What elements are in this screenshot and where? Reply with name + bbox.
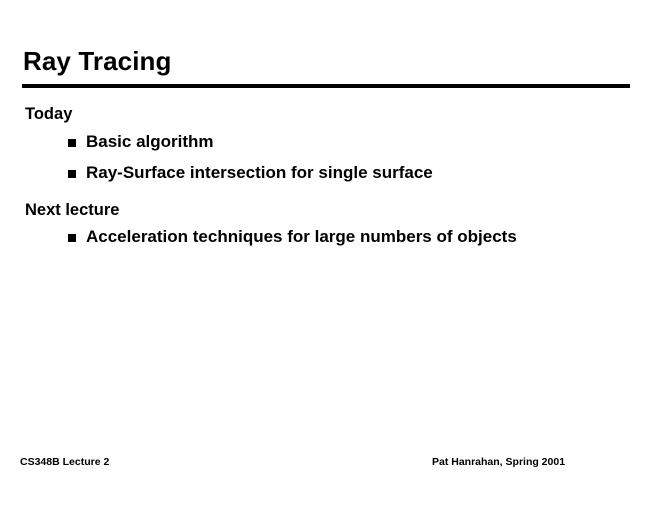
square-bullet-icon (68, 139, 76, 147)
slide-footer: CS348B Lecture 2 Pat Hanrahan, Spring 20… (0, 456, 660, 472)
section-heading-today: Today (0, 106, 660, 123)
page-title: Ray Tracing (23, 47, 172, 76)
section-heading-next-lecture: Next lecture (0, 202, 660, 219)
footer-course-label: CS348B Lecture 2 (20, 456, 109, 469)
footer-author-label: Pat Hanrahan, Spring 2001 (432, 456, 565, 469)
square-bullet-icon (68, 170, 76, 178)
list-item-label: Acceleration techniques for large number… (86, 228, 517, 245)
list-item: Basic algorithm (0, 133, 660, 150)
list-item-label: Ray-Surface intersection for single surf… (86, 164, 433, 181)
title-divider (22, 84, 630, 88)
slide-body: Today Basic algorithm Ray-Surface inters… (0, 106, 660, 259)
slide-canvas: Ray Tracing Today Basic algorithm Ray-Su… (0, 0, 660, 510)
list-item: Acceleration techniques for large number… (0, 228, 660, 245)
list-item-label: Basic algorithm (86, 133, 214, 150)
square-bullet-icon (68, 234, 76, 242)
list-item: Ray-Surface intersection for single surf… (0, 164, 660, 181)
